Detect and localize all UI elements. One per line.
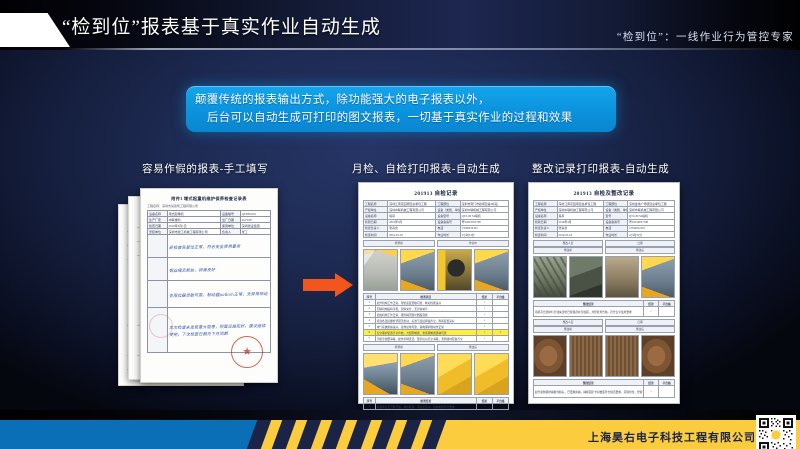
info-key: 检查时间: [364, 231, 388, 237]
info-key: 作业时长: [604, 231, 628, 237]
form-title: 附件3 增式起重机维护保养检查记录表: [147, 196, 271, 202]
before-label: 整改前: [533, 247, 603, 254]
page-title: “检到位”报表基于真实作业自动生成: [62, 12, 381, 39]
report-title: 201913 自检及整改记录: [533, 187, 675, 200]
photo-row: [363, 249, 509, 291]
photo-group-label: 检查前: [363, 344, 435, 351]
photo-row: [363, 353, 509, 395]
header-accent-shape: [0, 13, 70, 47]
check-item: 司机室视野清晰，操作手柄灵活，警示标识齐全清晰，消防器材配备齐全: [375, 336, 476, 342]
site-photo: [641, 335, 675, 377]
checklist-table: 序号 检查项目 结论 不合格 1 起升机构工作正常，限位装置灵敏可靠，制动性能良…: [363, 293, 509, 342]
form-subtitle: 工程名称：深圳市某建筑工程有限公司: [147, 204, 271, 208]
site-photo: [437, 353, 472, 395]
result-text: 起升机构钢丝绳断丝超标，已更换新绳，绳端固定卡扣数量符合规范要求，润滑到位，经复…: [534, 386, 644, 398]
info-value: 2小时31分: [460, 231, 508, 237]
site-photo: [474, 353, 509, 395]
report-info-table: 工程名称 深圳江南花园项目总承包工程 工程部位 深圳金地广场项目总承包工程 产权…: [533, 200, 675, 238]
paper-sheet-front: 附件3 增式起重机维护保养检查记录表 工程名称：深圳市某建筑工程有限公司 设备名…: [140, 188, 278, 383]
site-photo: [533, 335, 567, 377]
row-index: 7: [364, 336, 376, 342]
site-photo: [437, 249, 472, 291]
table-row: 检查时间 2019-03-18 作业时长 2小时31分: [364, 231, 509, 237]
site-photo: [569, 335, 603, 377]
site-photo: [641, 256, 675, 298]
callout-line-2: 后台可以自动生成可打印的图文报表，一切基于真实作业的过程和效果: [195, 109, 607, 127]
photo-group-label: 整改后: [437, 344, 509, 351]
info-value: 2019-03-18: [388, 231, 436, 237]
photo-row-before-after-2: [533, 335, 675, 377]
photo-section-header: 检查前 作业中: [363, 240, 509, 247]
slide-root: “检到位”报表基于真实作业自动生成 “检到位”：一线作业行为管控专家 颠覆传统的…: [0, 0, 800, 449]
signoff-label: 整改人员: [533, 319, 603, 326]
column-caption-rectification: 整改记录打印报表-自动生成: [532, 161, 669, 176]
site-photo: [474, 249, 509, 291]
manual-form-stack: 附件3 增式起重机维护保养检查记录表 工程名称：深圳市某建筑工程有限公司 设备名…: [118, 186, 288, 394]
slide-footer: 上海昊右电子科技工程有限公司: [0, 410, 800, 449]
inspection-report-document: 201913 自检记录 工程名称 深圳江南花园项目总承包工程 工程部位 深圳市南…: [358, 182, 514, 404]
signoff-header-2: 整改人员 日期: [533, 319, 675, 326]
before-after-header-2: 整改前 整改后: [533, 326, 675, 333]
rectification-result-table: 整改结论 结论 不合格 塔机平台防护栏杆缺失部位已按规范补齐加固，并经复查合格，…: [533, 300, 675, 317]
column-caption-inspection: 月检、自检打印报表-自动生成: [352, 161, 500, 176]
table-row: 经检查各部位正常，符合安全使用要求: [148, 235, 271, 258]
table-row: 检查时间 2019-03-18 作业时长 2小时31分: [534, 231, 675, 237]
site-photo: [400, 249, 435, 291]
slide-header: “检到位”报表基于真实作业自动生成 “检到位”：一线作业行为管控专家: [0, 0, 800, 50]
secondary-stamp: [149, 314, 173, 338]
signoff-header: 整改人员 日期: [533, 240, 675, 247]
header-tagline: “检到位”：一线作业行为管控专家: [617, 29, 794, 44]
handwritten-note: 本次检查未发现重大隐患，附属设施完好，建议继续使用，下次检查日期为下月同期: [169, 322, 270, 338]
site-photo: [363, 353, 398, 395]
rectification-result-table-2: 整改结论 结论 不合格 起升机构钢丝绳断丝超标，已更换新绳，绳端固定卡扣数量符合…: [533, 379, 675, 398]
signoff-label: 日期: [605, 240, 675, 247]
info-key: 检查时间: [534, 231, 558, 237]
result-mark: √: [643, 386, 659, 398]
rectification-report-document: 201913 自检及整改记录 工程名称 深圳江南花园项目总承包工程 工程部位 深…: [528, 182, 680, 404]
site-photo: [400, 353, 435, 395]
signoff-label: 日期: [605, 319, 675, 326]
photo-section-header-2: 检查前 整改后: [363, 344, 509, 351]
handwritten-note: 各限位器灵敏可靠，制动器работ正常，无异常响动: [169, 289, 269, 298]
column-caption-manual: 容易作假的报表-手工填写: [142, 161, 268, 176]
photo-group-label: 检查前: [363, 240, 435, 247]
star-icon: ★: [242, 347, 252, 358]
footer-top-strip: [0, 410, 800, 420]
signoff-label: 整改人员: [533, 240, 603, 247]
callout-box: 颠覆传统的报表输出方式，除功能强大的电子报表以外， 后台可以自动生成可打印的图文…: [186, 86, 616, 132]
after-label: 整改后: [605, 326, 675, 333]
handwritten-note: 经检查各部位正常，符合安全使用要求: [169, 241, 269, 250]
photo-row-before-after: [533, 256, 675, 298]
check-result: √: [476, 336, 492, 342]
after-label: 整改后: [605, 247, 675, 254]
info-key: 作业时长: [436, 231, 460, 237]
table-row: 起升机构钢丝绳断丝超标，已更换新绳，绳端固定卡扣数量符合规范要求，润滑到位，经复…: [534, 386, 675, 398]
handwritten-form: 附件3 增式起重机维护保养检查记录表 工程名称：深圳市某建筑工程有限公司 设备名…: [141, 189, 277, 382]
check-fail: [492, 336, 508, 342]
header-divider: [62, 48, 800, 50]
info-value: 2小时31分: [628, 231, 675, 237]
red-seal-stamp: ★: [231, 336, 263, 368]
site-photo: [605, 335, 639, 377]
result-text: 塔机平台防护栏杆缺失部位已按规范补齐加固，并经复查合格，符合安全使用要求: [534, 307, 644, 317]
qr-code-icon: [756, 415, 796, 449]
site-photo: [533, 256, 567, 298]
callout-line-1: 颠覆传统的报表输出方式，除功能强大的电子报表以外，: [195, 91, 607, 109]
site-photo: [605, 256, 639, 298]
table-row: 钢丝绳无断丝，润滑良好: [148, 258, 271, 281]
report-info-table: 工程名称 深圳江南花园项目总承包工程 工程部位 深圳市南门市政项目第2标段 产权…: [363, 200, 509, 238]
table-row: 塔机平台防护栏杆缺失部位已按规范补齐加固，并经复查合格，符合安全使用要求 √: [534, 307, 675, 317]
before-after-header: 整改前 整改后: [533, 247, 675, 254]
photo-group-label: 作业中: [437, 240, 509, 247]
site-photo: [569, 256, 603, 298]
site-photo: [363, 249, 398, 291]
handwritten-note: 钢丝绳无断丝，润滑良好: [169, 264, 269, 273]
table-row: 7 司机室视野清晰，操作手柄灵活，警示标识齐全清晰，消防器材配备齐全 √: [364, 336, 509, 342]
report-title: 201913 自检记录: [363, 187, 509, 200]
result-mark: √: [643, 307, 659, 317]
flow-arrow-icon: [303, 273, 353, 297]
info-value: 2019-03-18: [557, 231, 604, 237]
company-name: 上海昊右电子科技工程有限公司: [588, 429, 756, 445]
table-row: 各限位器灵敏可靠，制动器работ正常，无异常响动: [148, 281, 271, 308]
before-label: 整改前: [533, 326, 603, 333]
